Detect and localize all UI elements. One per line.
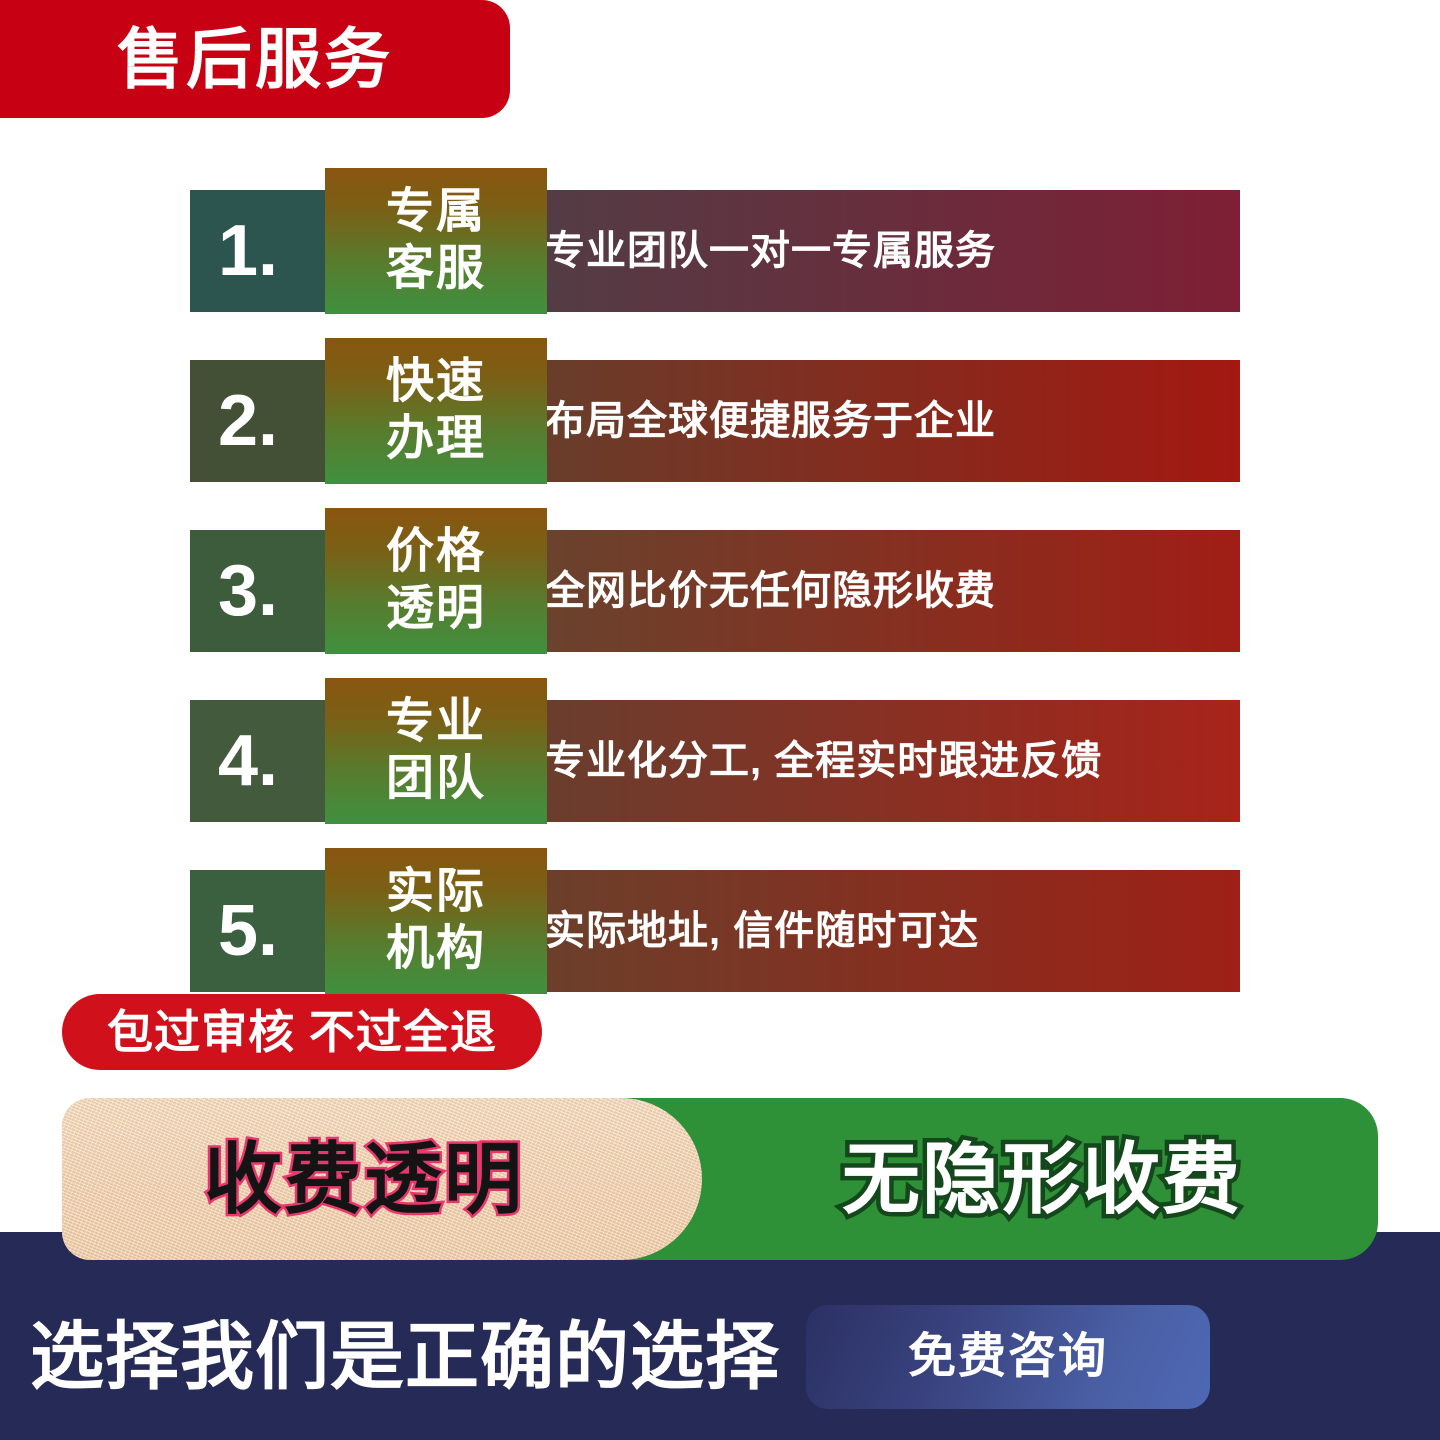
after-sales-service-badge-label: 售后服务 [117, 26, 393, 92]
feature-row: 1. 专业团队一对一专属服务 专属 客服 [0, 168, 1440, 338]
feature-number: 3. [218, 555, 278, 627]
feature-label-tile: 实际 机构 [325, 848, 547, 994]
bottom-headline: 选择我们是正确的选择 [30, 1320, 780, 1394]
feature-label-line-2: 透明 [386, 581, 486, 638]
bottom-bar: 选择我们是正确的选择 免费咨询 [0, 1274, 1440, 1440]
feature-label-line-2: 办理 [386, 411, 486, 468]
feature-label-tile: 快速 办理 [325, 338, 547, 484]
feature-label-tile: 专业 团队 [325, 678, 547, 824]
free-consultation-button[interactable]: 免费咨询 [806, 1305, 1210, 1409]
guarantee-pill-label: 包过审核 不过全退 [107, 1009, 497, 1055]
feature-label-line-2: 团队 [386, 751, 486, 808]
guarantee-pill: 包过审核 不过全退 [62, 994, 542, 1070]
feature-row: 2. 布局全球便捷服务于企业 快速 办理 [0, 338, 1440, 508]
feature-row: 4. 专业化分工, 全程实时跟进反馈 专业 团队 [0, 678, 1440, 848]
free-consultation-button-label: 免费咨询 [908, 1333, 1108, 1381]
feature-description: 专业化分工, 全程实时跟进反馈 [545, 741, 1102, 781]
feature-description: 专业团队一对一专属服务 [545, 231, 996, 271]
banner-left-half: 收费透明 [62, 1098, 702, 1260]
banner-right-half: 无隐形收费 [722, 1098, 1362, 1260]
feature-row: 3. 全网比价无任何隐形收费 价格 透明 [0, 508, 1440, 678]
feature-label-line-1: 专业 [386, 694, 486, 751]
feature-label-line-2: 客服 [386, 241, 486, 298]
after-sales-service-badge: 售后服务 [0, 0, 510, 118]
feature-description: 全网比价无任何隐形收费 [545, 571, 996, 611]
feature-description: 布局全球便捷服务于企业 [545, 401, 996, 441]
banner-right-text: 无隐形收费 [842, 1140, 1242, 1218]
feature-number: 5. [218, 895, 278, 967]
feature-label-tile: 专属 客服 [325, 168, 547, 314]
feature-label-line-1: 实际 [386, 864, 486, 921]
feature-row: 5. 实际地址, 信件随时可达 实际 机构 [0, 848, 1440, 1018]
feature-description: 实际地址, 信件随时可达 [545, 911, 979, 951]
feature-number: 1. [218, 215, 278, 287]
feature-list: 1. 专业团队一对一专属服务 专属 客服 2. 布局全球便捷服务于企业 快速 办… [0, 168, 1440, 1018]
feature-number: 2. [218, 385, 278, 457]
highlight-banner: 收费透明 无隐形收费 [62, 1098, 1378, 1260]
feature-number: 4. [218, 725, 278, 797]
feature-label-line-1: 专属 [386, 184, 486, 241]
banner-left-text: 收费透明 [204, 1140, 524, 1218]
feature-label-line-2: 机构 [386, 921, 486, 978]
feature-label-line-1: 快速 [386, 354, 486, 411]
feature-label-line-1: 价格 [386, 524, 486, 581]
feature-label-tile: 价格 透明 [325, 508, 547, 654]
